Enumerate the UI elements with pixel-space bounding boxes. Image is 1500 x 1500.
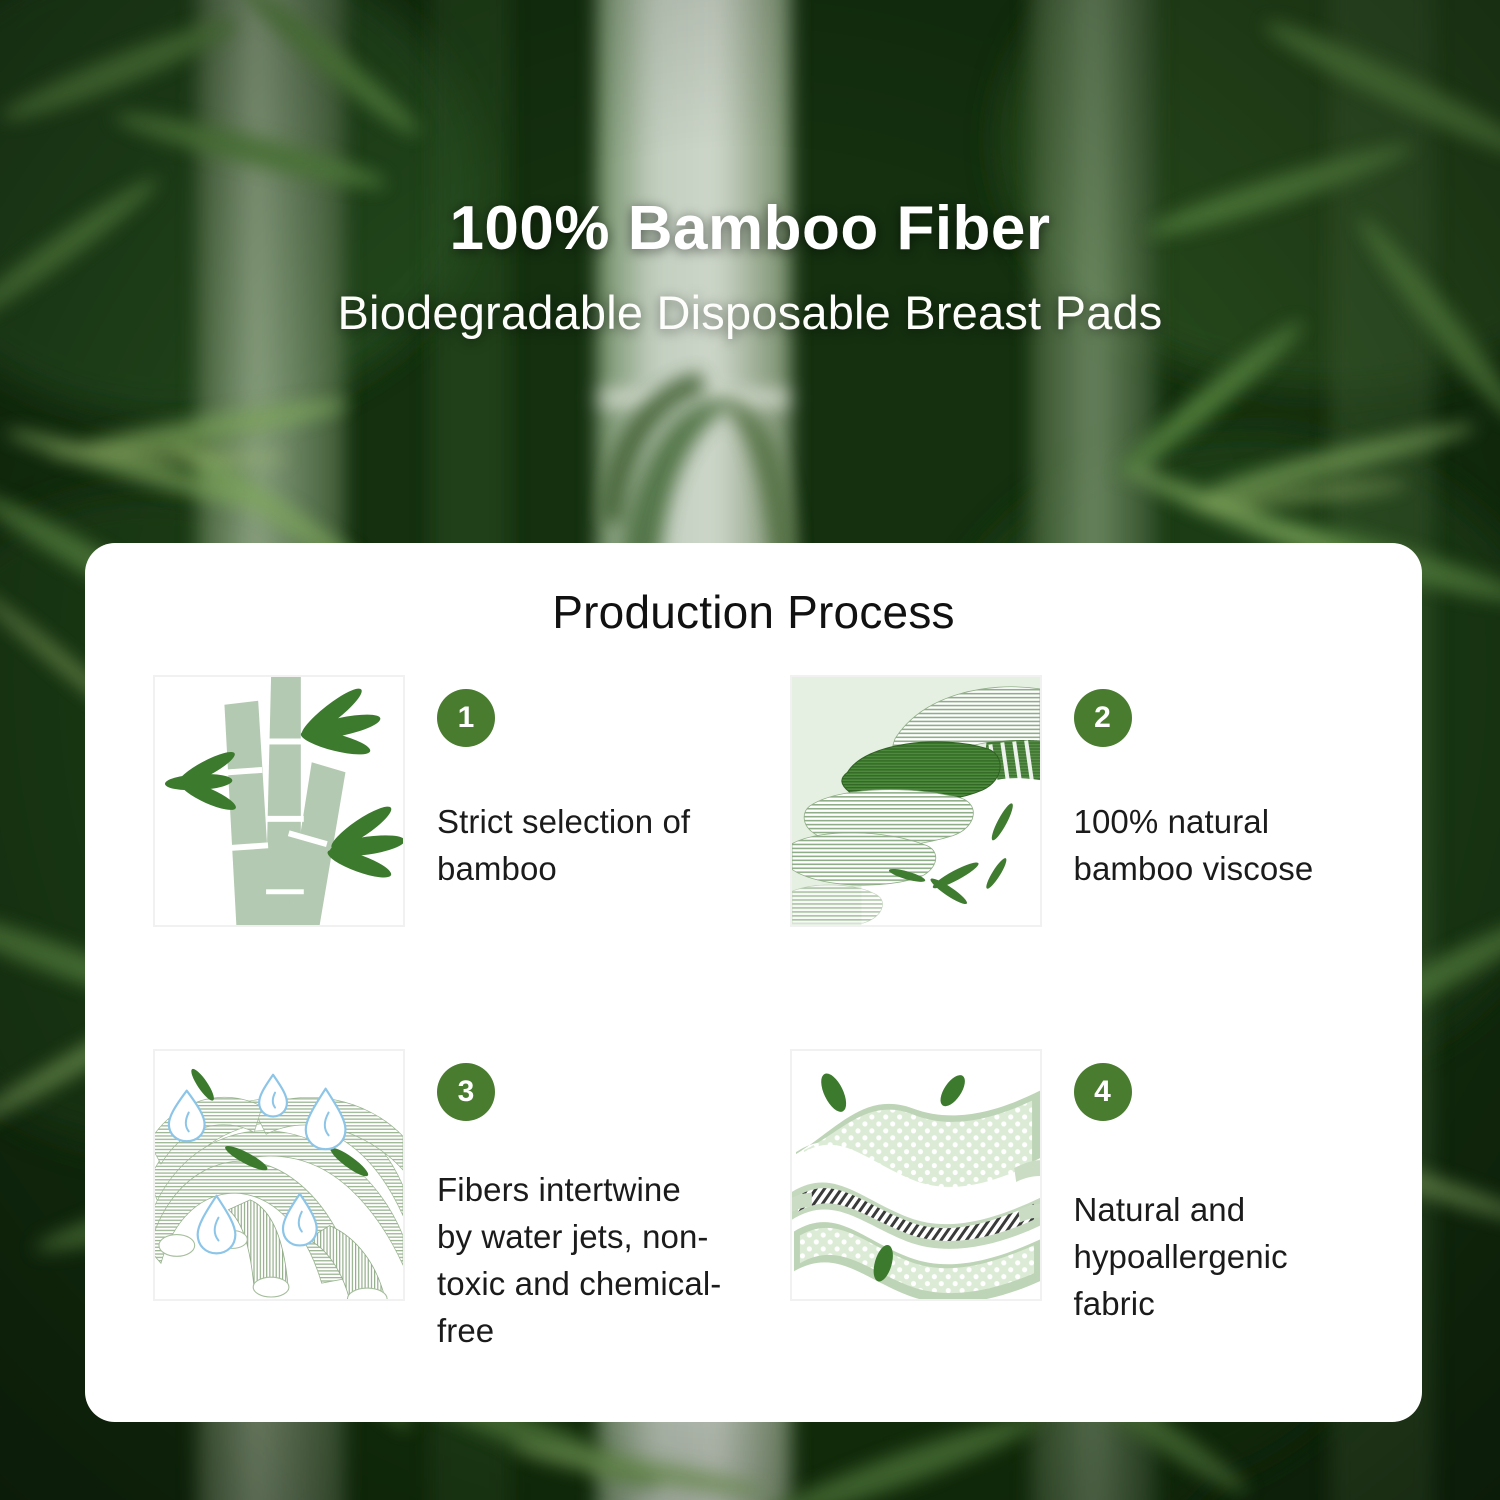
fibers-water-jets-icon <box>153 1049 405 1301</box>
card-title: Production Process <box>85 585 1422 639</box>
bamboo-viscose-ribbons-icon <box>790 675 1042 927</box>
process-step: 3 Fibers intertwine by water jets, non-t… <box>153 1049 722 1375</box>
step-description: Fibers intertwine by water jets, non-tox… <box>437 1167 722 1354</box>
header-block: 100% Bamboo Fiber Biodegradable Disposab… <box>0 196 1500 339</box>
step-description: Natural and hypoallergenic fabric <box>1074 1187 1359 1328</box>
stacked-fabric-layers-icon <box>790 1049 1042 1301</box>
step-body: 2 100% natural bamboo viscose <box>1074 675 1359 893</box>
step-body: 1 Strict selection of bamboo <box>437 675 722 893</box>
page-title: 100% Bamboo Fiber <box>0 196 1500 261</box>
step-body: 4 Natural and hypoallergenic fabric <box>1074 1049 1359 1328</box>
process-step: 2 100% natural bamboo viscose <box>790 675 1359 1001</box>
process-step: 1 Strict selection of bamboo <box>153 675 722 1001</box>
step-number-badge: 2 <box>1074 689 1132 747</box>
step-number-badge: 3 <box>437 1063 495 1121</box>
page-subtitle: Biodegradable Disposable Breast Pads <box>0 287 1500 339</box>
step-number-badge: 1 <box>437 689 495 747</box>
production-process-card: Production Process <box>85 543 1422 1422</box>
process-step: 4 Natural and hypoallergenic fabric <box>790 1049 1359 1375</box>
step-number-badge: 4 <box>1074 1063 1132 1121</box>
bamboo-stalks-icon <box>153 675 405 927</box>
steps-grid: 1 Strict selection of bamboo <box>153 675 1358 1375</box>
step-description: Strict selection of bamboo <box>437 799 722 893</box>
step-description: 100% natural bamboo viscose <box>1074 799 1359 893</box>
step-body: 3 Fibers intertwine by water jets, non-t… <box>437 1049 722 1354</box>
